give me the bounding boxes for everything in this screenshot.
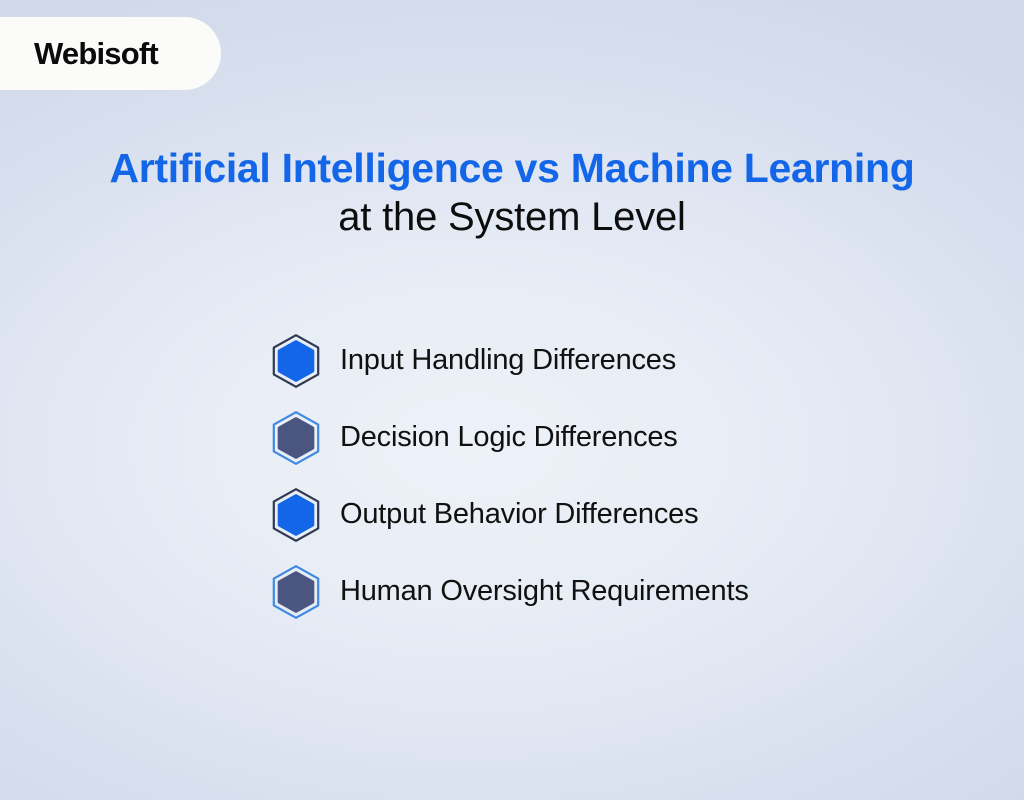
list-item-label: Decision Logic Differences bbox=[340, 421, 678, 454]
page-title-line-2: at the System Level bbox=[0, 195, 1024, 241]
list-item-label: Input Handling Differences bbox=[340, 344, 676, 377]
page-title-line-1: Artificial Intelligence vs Machine Learn… bbox=[0, 145, 1024, 192]
hexagon-core bbox=[279, 341, 312, 379]
list-item-label: Human Oversight Requirements bbox=[340, 575, 749, 608]
list-item[interactable]: Input Handling Differences bbox=[268, 322, 968, 399]
page-title: Artificial Intelligence vs Machine Learn… bbox=[0, 145, 1024, 240]
brand-logo-pill[interactable]: Webisoft bbox=[0, 17, 221, 90]
brand-logo-text: Webisoft bbox=[34, 38, 158, 69]
list-item[interactable]: Output Behavior Differences bbox=[268, 476, 968, 553]
hexagon-core bbox=[279, 572, 312, 610]
list-item-label: Output Behavior Differences bbox=[340, 498, 698, 531]
hexagon-core bbox=[279, 495, 312, 533]
hexagon-icon bbox=[268, 563, 324, 621]
hexagon-icon bbox=[268, 409, 324, 467]
hexagon-icon bbox=[268, 486, 324, 544]
list-item[interactable]: Decision Logic Differences bbox=[268, 399, 968, 476]
slide-canvas: Webisoft Artificial Intelligence vs Mach… bbox=[0, 0, 1024, 800]
topic-list: Input Handling Differences Decision Logi… bbox=[268, 322, 968, 630]
hexagon-core bbox=[279, 418, 312, 456]
list-item[interactable]: Human Oversight Requirements bbox=[268, 553, 968, 630]
hexagon-icon bbox=[268, 332, 324, 390]
